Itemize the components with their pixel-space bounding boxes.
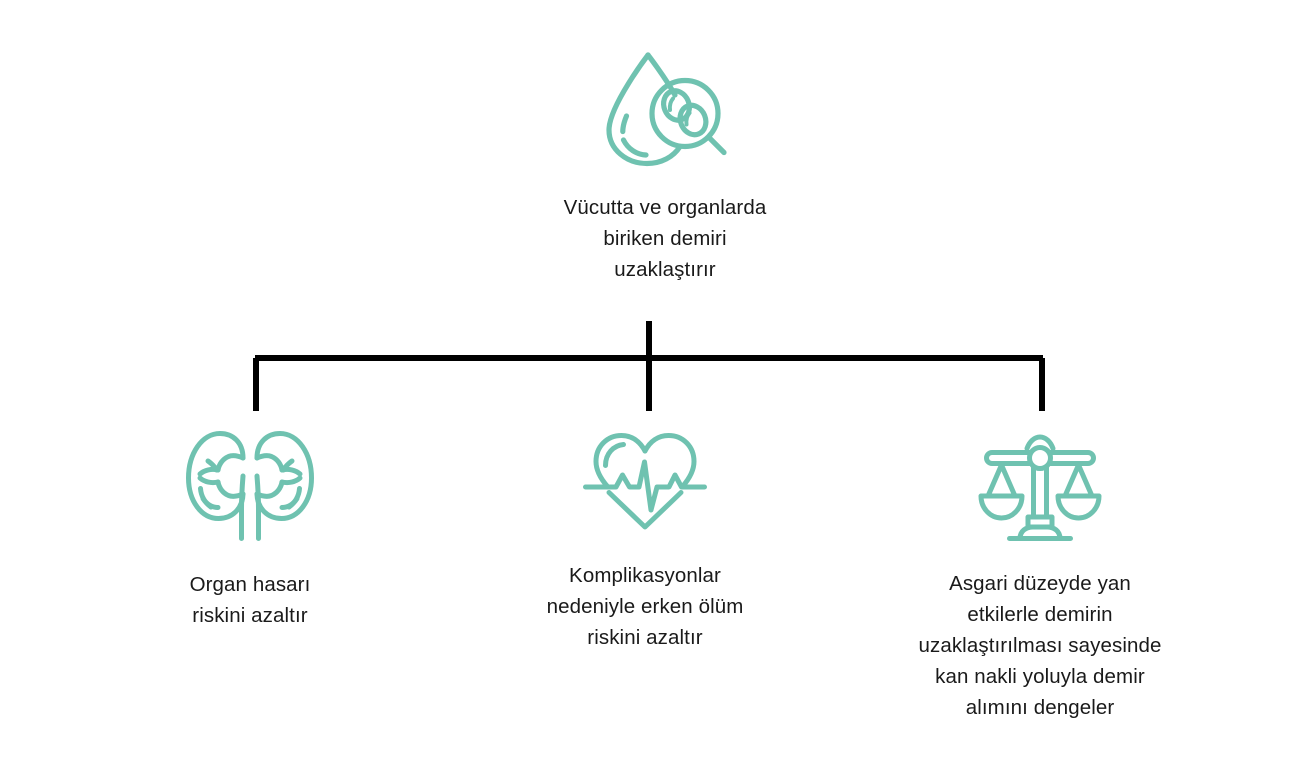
kidneys-icon (185, 430, 315, 542)
blood-drop-magnifier-icon (601, 50, 729, 168)
node-root: Vücutta ve organlarda biriken demiri uza… (430, 50, 900, 285)
node-heart: Komplikasyonlar nedeniyle erken ölüm ris… (495, 430, 795, 653)
node-scales-label: Asgari düzeyde yan etkilerle demirin uza… (918, 568, 1161, 723)
node-root-label: Vücutta ve organlarda biriken demiri uza… (564, 192, 767, 285)
node-kidney-label: Organ hasarı riskini azaltır (190, 569, 311, 631)
heart-pulse-icon (577, 430, 713, 532)
balance-scales-icon (978, 430, 1102, 544)
infographic-canvas: Vücutta ve organlarda biriken demiri uza… (0, 0, 1300, 782)
node-kidney: Organ hasarı riskini azaltır (100, 430, 400, 631)
node-scales: Asgari düzeyde yan etkilerle demirin uza… (890, 430, 1190, 723)
node-heart-label: Komplikasyonlar nedeniyle erken ölüm ris… (547, 560, 744, 653)
